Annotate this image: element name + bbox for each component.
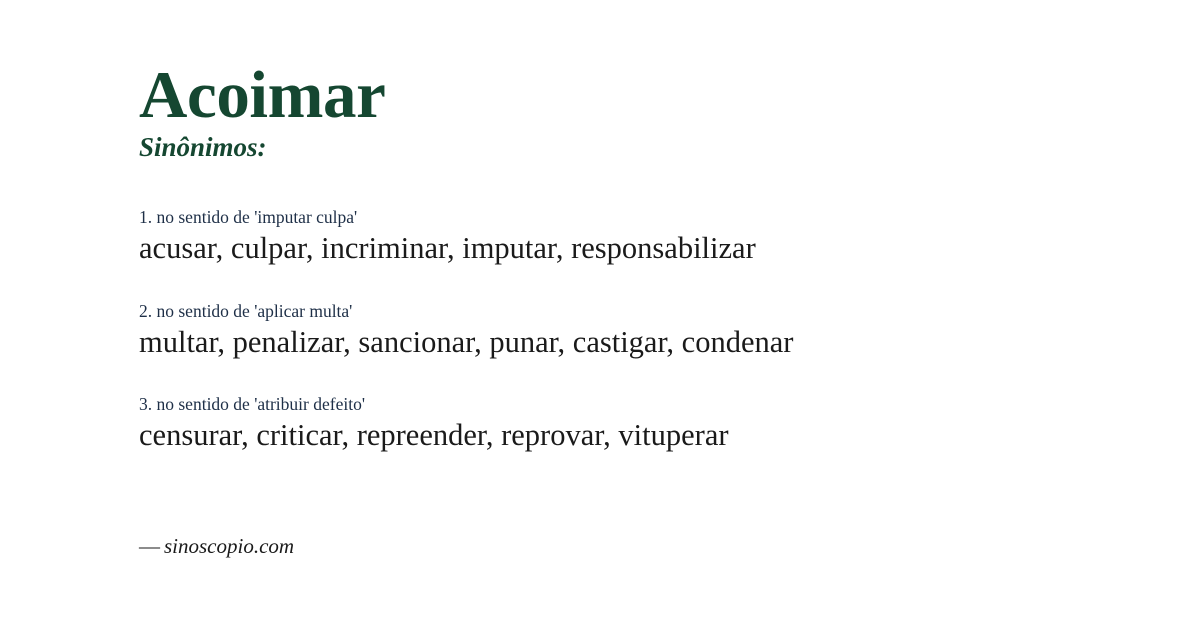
sense-synonyms: censurar, criticar, repreender, reprovar… <box>139 417 1139 454</box>
sense-synonyms: acusar, culpar, incriminar, imputar, res… <box>139 230 1139 267</box>
sense-label: 2. no sentido de 'aplicar multa' <box>139 301 1139 322</box>
synonyms-subtitle: Sinônimos: <box>139 134 267 161</box>
page-title: Acoimar <box>139 62 386 129</box>
em-dash-icon: — <box>139 534 164 558</box>
sense-list: 1. no sentido de 'imputar culpa' acusar,… <box>139 207 1139 455</box>
sense-entry: 3. no sentido de 'atribuir defeito' cens… <box>139 394 1139 455</box>
sense-entry: 2. no sentido de 'aplicar multa' multar,… <box>139 301 1139 362</box>
sense-label: 3. no sentido de 'atribuir defeito' <box>139 394 1139 415</box>
sense-label: 1. no sentido de 'imputar culpa' <box>139 207 1139 228</box>
source-name: sinoscopio.com <box>164 534 294 558</box>
sense-synonyms: multar, penalizar, sancionar, punar, cas… <box>139 324 1139 361</box>
source-attribution: —sinoscopio.com <box>139 534 294 559</box>
synonym-card: Acoimar Sinônimos: 1. no sentido de 'imp… <box>0 0 1200 628</box>
sense-entry: 1. no sentido de 'imputar culpa' acusar,… <box>139 207 1139 268</box>
